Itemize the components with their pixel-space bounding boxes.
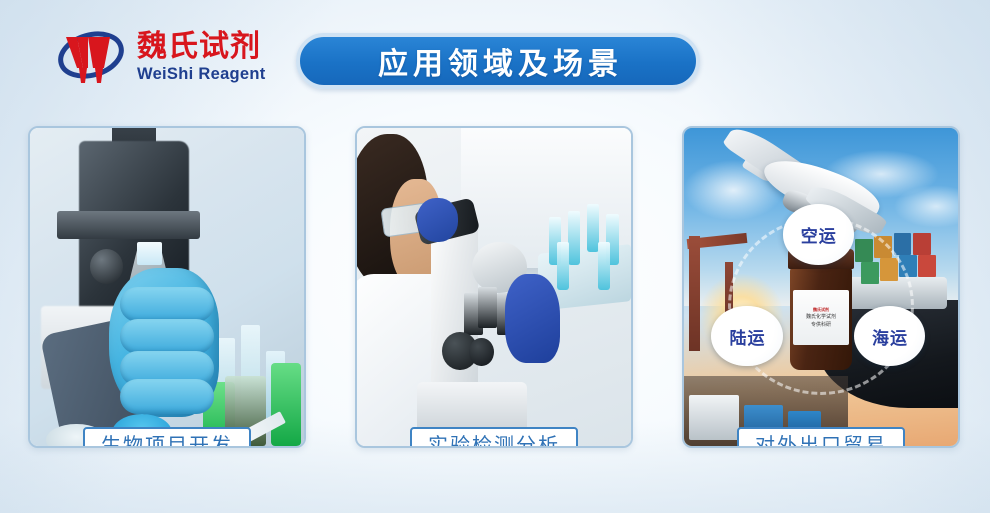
air-freight-badge: 空运 xyxy=(783,204,854,264)
bottle-brand-text: 魏氏试剂 xyxy=(813,307,829,313)
card-foreign-export-trade[interactable]: 魏氏试剂 魏氏化学试剂 专供科研 空运 陆运 海运 对外出口贸易 xyxy=(682,126,960,448)
bottle-label-line2: 专供科研 xyxy=(811,322,831,328)
lab-hand-blue-flask-microscope-photo xyxy=(30,128,304,446)
logistics-air-land-sea-photo: 魏氏试剂 魏氏化学试剂 专供科研 空运 陆运 海运 xyxy=(684,128,958,446)
application-cards: 生物项目开发 实验检测分析 xyxy=(0,0,990,513)
air-freight-label: 空运 xyxy=(800,222,837,247)
sea-freight-label: 海运 xyxy=(871,324,908,349)
card-label-foreign-export-trade: 对外出口贸易 xyxy=(737,427,905,448)
scientist-at-microscope-photo xyxy=(357,128,631,446)
reagent-bottle: 魏氏试剂 魏氏化学试剂 专供科研 xyxy=(788,249,854,370)
card-label-biological-project-development: 生物项目开发 xyxy=(83,427,251,448)
bottle-label-line1: 魏氏化学试剂 xyxy=(806,314,836,320)
reagent-bottle-label: 魏氏试剂 魏氏化学试剂 专供科研 xyxy=(793,290,848,346)
card-biological-project-development[interactable]: 生物项目开发 xyxy=(28,126,306,448)
land-freight-label: 陆运 xyxy=(729,324,766,349)
card-label-text: 生物项目开发 xyxy=(101,433,233,448)
land-freight-badge: 陆运 xyxy=(711,306,782,366)
card-label-experimental-testing-analysis: 实验检测分析 xyxy=(410,427,578,448)
card-label-text: 对外出口贸易 xyxy=(755,433,887,448)
card-experimental-testing-analysis[interactable]: 实验检测分析 xyxy=(355,126,633,448)
card-label-text: 实验检测分析 xyxy=(428,433,560,448)
